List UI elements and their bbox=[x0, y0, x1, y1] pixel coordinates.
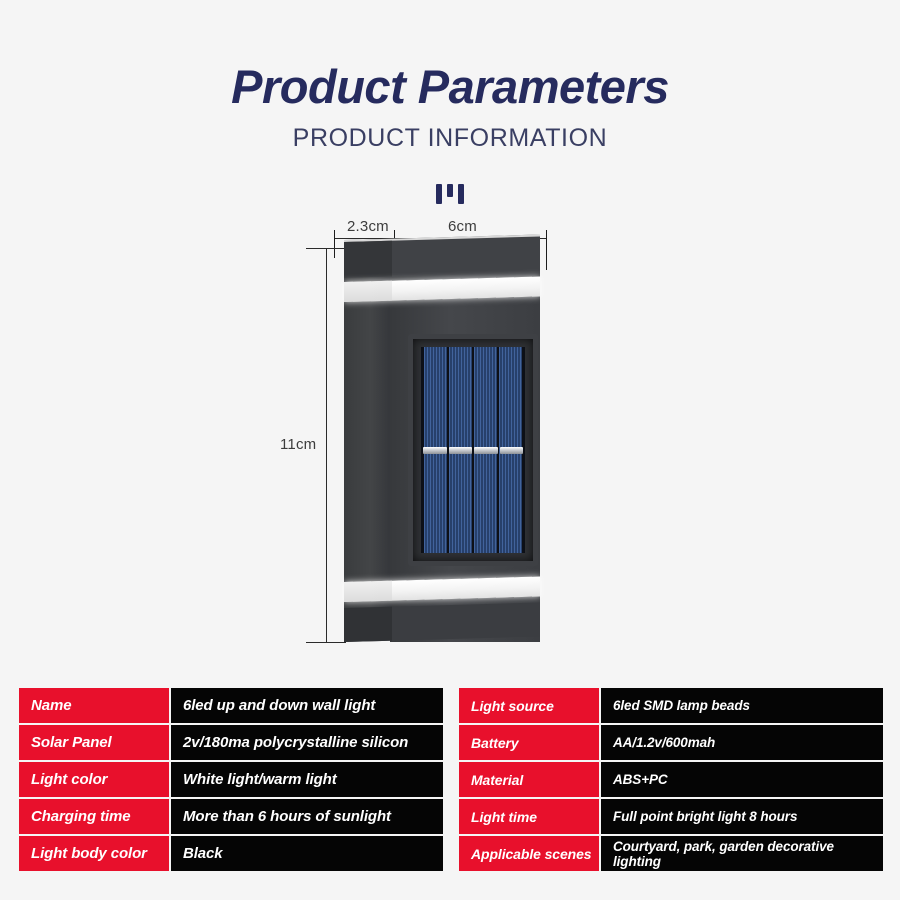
table-row: Charging time More than 6 hours of sunli… bbox=[19, 799, 443, 834]
spec-key: Name bbox=[19, 688, 169, 723]
spec-key: Charging time bbox=[19, 799, 169, 834]
dimension-cap-bottom bbox=[306, 642, 346, 643]
decorative-bar-right bbox=[458, 184, 464, 204]
specification-tables: Name 6led up and down wall light Solar P… bbox=[19, 688, 883, 871]
dimension-label-depth: 2.3cm bbox=[347, 218, 389, 235]
led-light-band-top-side bbox=[344, 281, 392, 302]
solar-wall-light-illustration bbox=[344, 240, 540, 642]
table-row: Applicable scenes Courtyard, park, garde… bbox=[459, 836, 883, 871]
lamp-top-cap-side bbox=[344, 241, 392, 278]
page-subtitle: PRODUCT INFORMATION bbox=[0, 111, 900, 153]
led-light-band-bottom-side bbox=[344, 581, 392, 602]
table-row: Material ABS+PC bbox=[459, 762, 883, 797]
table-row: Light body color Black bbox=[19, 836, 443, 871]
spec-key: Material bbox=[459, 762, 599, 797]
solar-panel-busbar bbox=[423, 447, 523, 454]
spec-key: Light body color bbox=[19, 836, 169, 871]
lamp-side-face bbox=[344, 248, 392, 634]
spec-key: Battery bbox=[459, 725, 599, 760]
table-row: Name 6led up and down wall light bbox=[19, 688, 443, 723]
page-title: Product Parameters bbox=[0, 0, 900, 111]
spec-value: Full point bright light 8 hours bbox=[601, 799, 883, 834]
dimension-label-width: 6cm bbox=[448, 218, 477, 235]
solar-panel bbox=[421, 347, 525, 553]
table-row: Battery AA/1.2v/600mah bbox=[459, 725, 883, 760]
table-row: Light color White light/warm light bbox=[19, 762, 443, 797]
spec-value: Black bbox=[171, 836, 443, 871]
page-header: Product Parameters PRODUCT INFORMATION bbox=[0, 0, 900, 153]
spec-value: More than 6 hours of sunlight bbox=[171, 799, 443, 834]
spec-key: Light color bbox=[19, 762, 169, 797]
dimension-cap-top bbox=[306, 248, 346, 249]
spec-table-left: Name 6led up and down wall light Solar P… bbox=[19, 688, 443, 871]
lamp-bottom-cap bbox=[344, 603, 540, 642]
spec-value: 2v/180ma polycrystalline silicon bbox=[171, 725, 443, 760]
spec-table-right: Light source 6led SMD lamp beads Battery… bbox=[459, 688, 883, 871]
decorative-bar-middle bbox=[447, 184, 453, 197]
busbar-segment-1 bbox=[423, 447, 447, 454]
dimension-line-left bbox=[326, 248, 327, 642]
table-row: Light source 6led SMD lamp beads bbox=[459, 688, 883, 723]
decorative-bars-icon bbox=[436, 184, 464, 206]
spec-key: Light time bbox=[459, 799, 599, 834]
lamp-bottom-cap-side bbox=[344, 607, 392, 642]
busbar-segment-4 bbox=[500, 447, 524, 454]
spec-value: 6led up and down wall light bbox=[171, 688, 443, 723]
spec-value: 6led SMD lamp beads bbox=[601, 688, 883, 723]
spec-key: Light source bbox=[459, 688, 599, 723]
decorative-bar-left bbox=[436, 184, 442, 204]
table-row: Solar Panel 2v/180ma polycrystalline sil… bbox=[19, 725, 443, 760]
solar-panel-bezel bbox=[408, 334, 538, 566]
busbar-segment-2 bbox=[449, 447, 473, 454]
spec-value: Courtyard, park, garden decorative light… bbox=[601, 836, 883, 871]
spec-value: White light/warm light bbox=[171, 762, 443, 797]
dimension-tick-left bbox=[334, 230, 335, 258]
dimension-tick-right bbox=[546, 230, 547, 270]
spec-value: AA/1.2v/600mah bbox=[601, 725, 883, 760]
spec-value: ABS+PC bbox=[601, 762, 883, 797]
lamp-top-cap bbox=[344, 235, 540, 278]
table-row: Light time Full point bright light 8 hou… bbox=[459, 799, 883, 834]
dimension-label-height: 11cm bbox=[280, 436, 316, 453]
spec-key: Applicable scenes bbox=[459, 836, 599, 871]
product-diagram: 2.3cm 6cm 11cm bbox=[0, 210, 900, 670]
busbar-segment-3 bbox=[474, 447, 498, 454]
spec-key: Solar Panel bbox=[19, 725, 169, 760]
